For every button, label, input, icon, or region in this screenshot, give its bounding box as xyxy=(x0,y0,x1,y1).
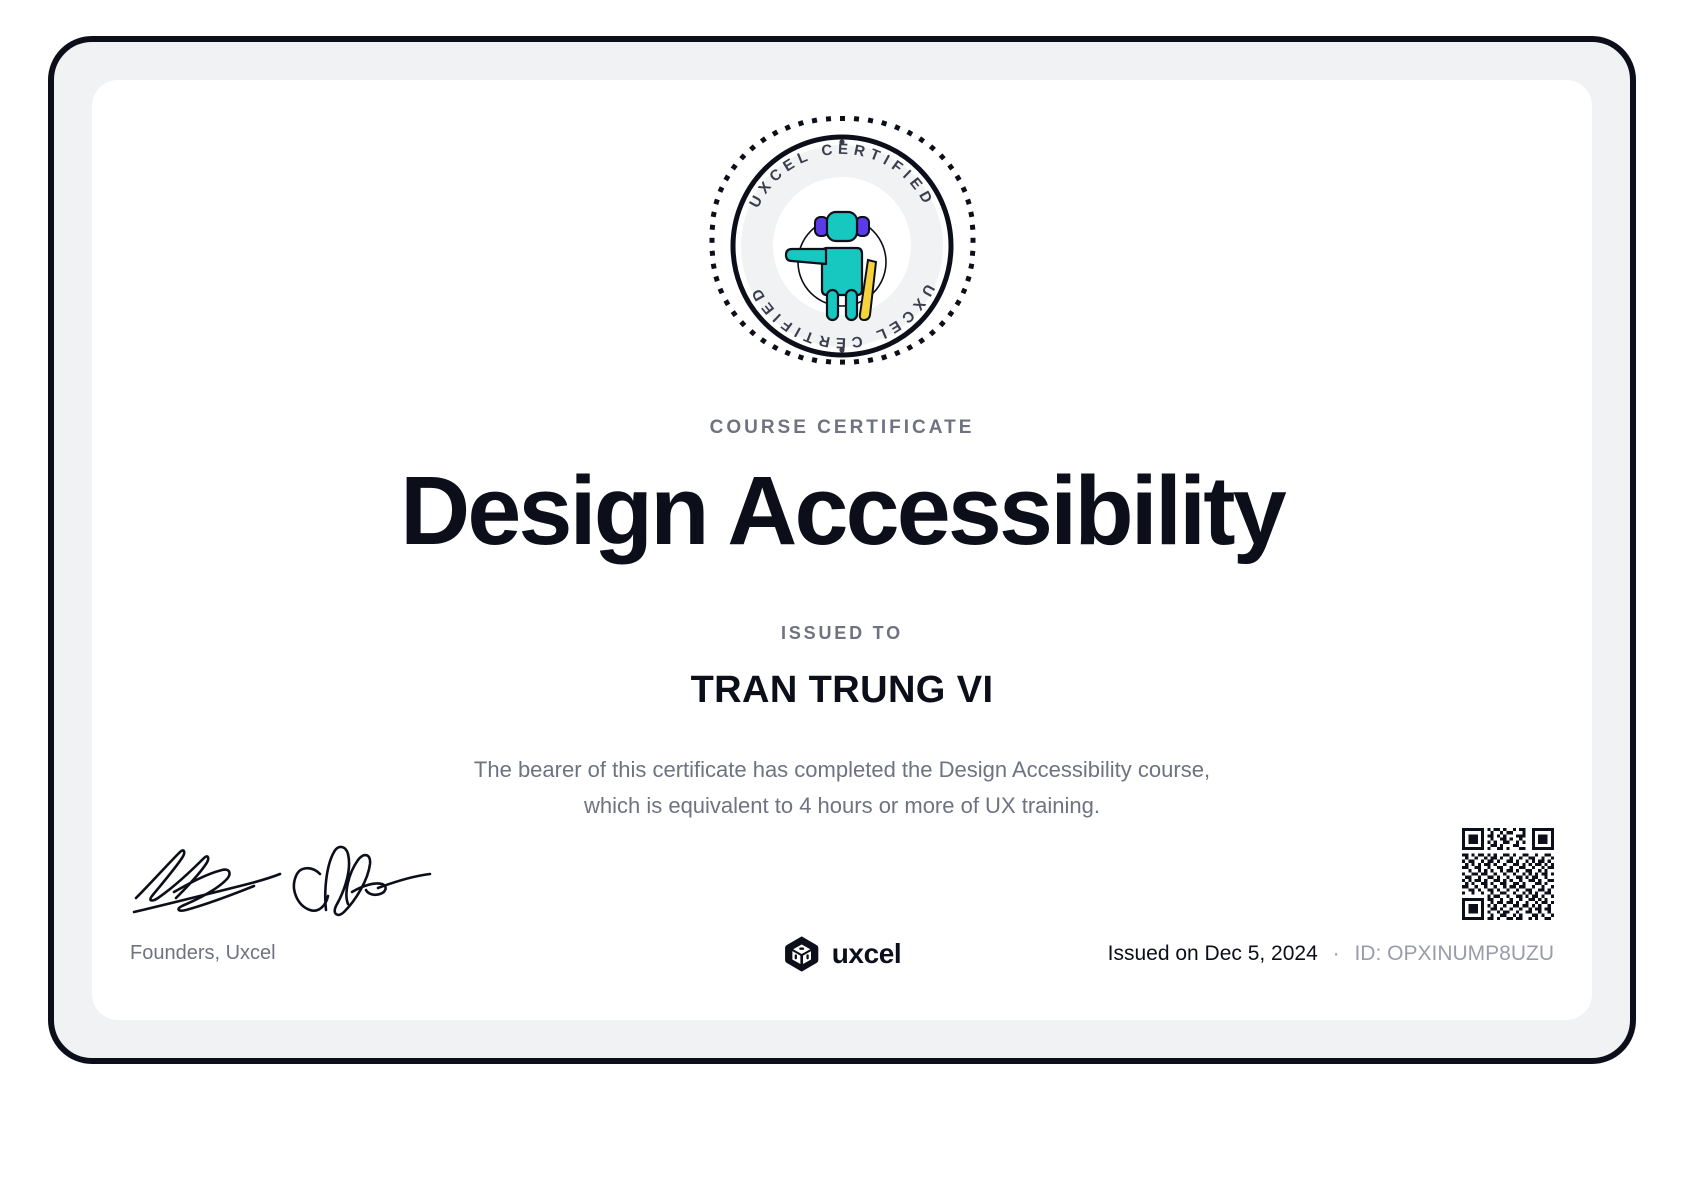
recipient-name: TRAN TRUNG VI xyxy=(92,669,1592,712)
certificate-description: The bearer of this certificate has compl… xyxy=(92,752,1592,823)
uxcel-certified-badge: UXCEL CERTIFIED UXCEL CERTIFIED xyxy=(708,112,976,380)
badge-ring-separator-dot xyxy=(839,139,844,144)
uxcel-wordmark: uxcel xyxy=(832,938,902,970)
certificate-frame: UXCEL CERTIFIED UXCEL CERTIFIED xyxy=(48,36,1636,1064)
founders-label: Founders, Uxcel xyxy=(130,942,276,965)
course-certificate-eyebrow: COURSE CERTIFICATE xyxy=(92,417,1592,439)
issued-to-eyebrow: ISSUED TO xyxy=(92,623,1592,644)
meta-separator: · xyxy=(1333,942,1340,965)
description-line-1: The bearer of this certificate has compl… xyxy=(92,752,1592,788)
issue-date: Issued on Dec 5, 2024 xyxy=(1108,942,1318,965)
verification-qr-code[interactable] xyxy=(1462,828,1554,920)
signature-icon xyxy=(130,840,440,922)
issue-metadata: Issued on Dec 5, 2024 · ID: OPXINUMP8UZU xyxy=(1108,942,1554,966)
qr-code-icon[interactable] xyxy=(1462,828,1554,920)
certificate-id: ID: OPXINUMP8UZU xyxy=(1354,942,1554,965)
uxcel-hexagon-icon xyxy=(783,935,821,973)
badge-ring-separator-dot-bottom xyxy=(839,347,844,352)
description-line-2: which is equivalent to 4 hours or more o… xyxy=(92,788,1592,824)
page-title: Design Accessibility xyxy=(92,462,1592,559)
certificate-panel: UXCEL CERTIFIED UXCEL CERTIFIED xyxy=(92,80,1592,1020)
badge-seal-icon: UXCEL CERTIFIED UXCEL CERTIFIED xyxy=(708,112,976,380)
uxcel-brand-logo: uxcel xyxy=(783,935,902,973)
founder-signatures xyxy=(130,840,450,922)
